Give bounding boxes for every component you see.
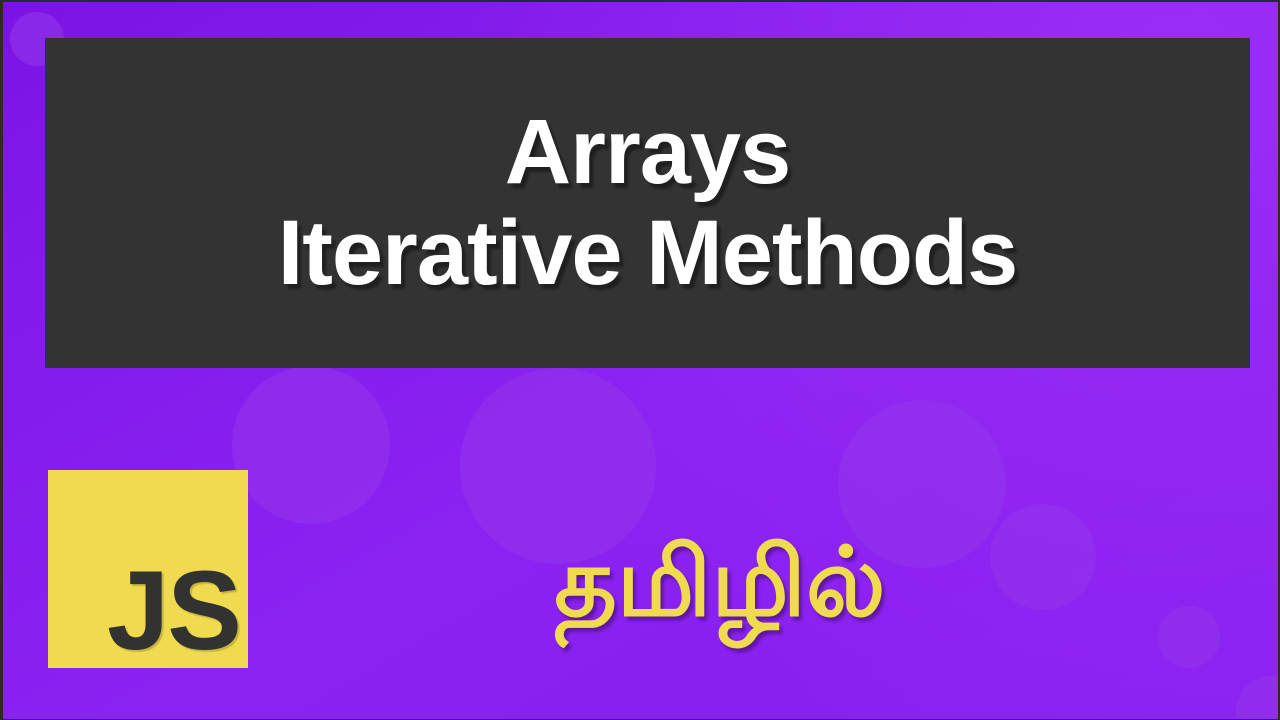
javascript-logo: JS [48,470,248,668]
frame-edge-left [0,0,3,720]
bokeh-circle-corner-bottom [1236,676,1280,720]
language-caption: தமிழில் [470,533,970,634]
video-thumbnail: Arrays Iterative Methods JS தமிழில் [0,0,1280,720]
bokeh-circle-lower-right [1158,606,1220,668]
title-card: Arrays Iterative Methods [45,38,1250,368]
bokeh-circle-right-small [990,504,1096,610]
title-line-primary: Arrays [505,103,791,202]
bokeh-circle-upper-mid [232,366,390,524]
title-line-secondary: Iterative Methods [278,204,1018,303]
javascript-logo-text: JS [107,559,248,668]
frame-edge-top [0,0,1280,2]
